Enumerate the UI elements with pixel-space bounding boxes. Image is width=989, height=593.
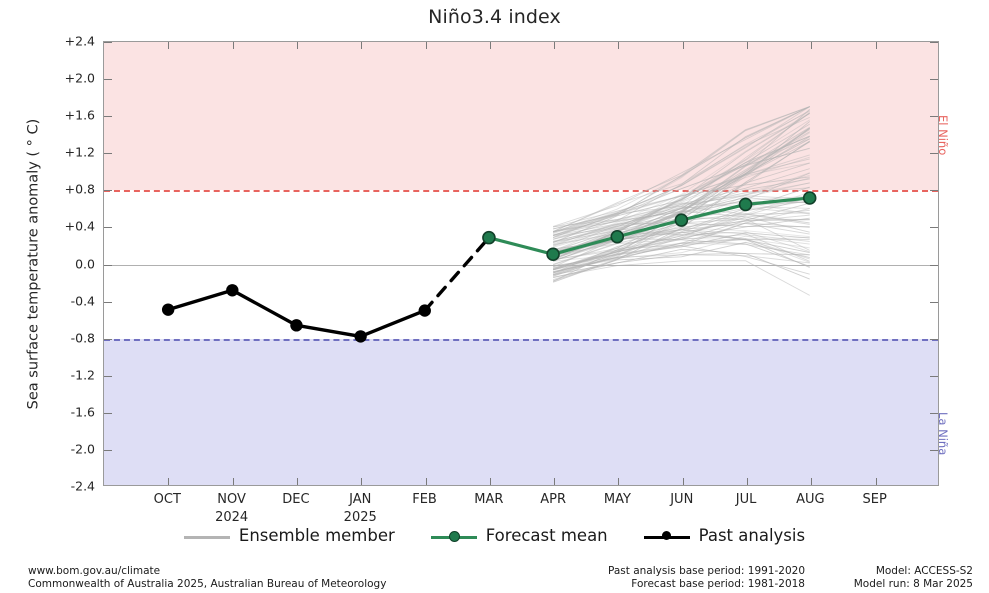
y-tick-label: +1.6: [35, 108, 95, 123]
legend-label-forecast: Forecast mean: [486, 526, 608, 545]
x-tick-mark: [747, 42, 748, 49]
x-tick-mark: [747, 478, 748, 485]
footer-model-run: Model run: 8 Mar 2025: [773, 578, 973, 591]
y-tick-mark: [104, 42, 112, 43]
forecast-mean-marker: [611, 231, 623, 243]
ensemble-line-icon: [184, 529, 230, 543]
y-tick-mark: [930, 42, 938, 43]
transition-dashed-line: [425, 238, 489, 311]
y-tick-label: -1.2: [35, 367, 95, 382]
past-analysis-marker: [290, 319, 302, 331]
footer-model-info: Model: ACCESS-S2 Model run: 8 Mar 2025: [773, 565, 973, 591]
y-tick-mark: [104, 116, 112, 117]
x-tick-mark: [876, 42, 877, 49]
y-tick-mark: [930, 265, 938, 266]
x-tick-mark: [361, 478, 362, 485]
forecast-mean-marker: [547, 248, 559, 260]
y-tick-mark: [104, 376, 112, 377]
y-tick-label: -2.4: [35, 479, 95, 494]
y-tick-mark: [930, 79, 938, 80]
y-tick-mark: [930, 227, 938, 228]
footer-model: Model: ACCESS-S2: [773, 565, 973, 578]
forecast-line-icon: [431, 529, 477, 543]
y-tick-mark: [104, 190, 112, 191]
x-tick-mark: [361, 42, 362, 49]
footer-forecast-base-period: Forecast base period: 1981-2018: [585, 578, 805, 591]
footer-left: www.bom.gov.au/climate Commonwealth of A…: [28, 565, 386, 591]
legend-label-ensemble: Ensemble member: [239, 526, 395, 545]
x-tick-mark: [490, 478, 491, 485]
forecast-mean-marker: [483, 232, 495, 244]
y-tick-label: +2.4: [35, 34, 95, 49]
y-tick-label: +1.2: [35, 145, 95, 160]
past-line-icon: [644, 529, 690, 543]
past-analysis-marker: [162, 303, 174, 315]
y-tick-label: -1.6: [35, 404, 95, 419]
y-tick-mark: [104, 302, 112, 303]
forecast-mean-marker: [804, 192, 816, 204]
x-tick-mark: [618, 42, 619, 49]
y-tick-label: -0.8: [35, 330, 95, 345]
footer-past-base-period: Past analysis base period: 1991-2020: [585, 565, 805, 578]
y-tick-mark: [104, 153, 112, 154]
plot-area: [103, 41, 939, 486]
y-tick-label: +0.4: [35, 219, 95, 234]
x-tick-mark: [233, 478, 234, 485]
x-tick-year-2025: 2025: [320, 510, 400, 525]
forecast-mean-marker: [675, 214, 687, 226]
x-tick-mark: [490, 42, 491, 49]
footer-copyright: Commonwealth of Australia 2025, Australi…: [28, 578, 386, 591]
y-tick-mark: [104, 339, 112, 340]
y-tick-mark: [104, 450, 112, 451]
x-tick-mark: [876, 478, 877, 485]
y-tick-mark: [930, 302, 938, 303]
legend-item-forecast[interactable]: Forecast mean: [431, 526, 608, 545]
x-tick-mark: [618, 478, 619, 485]
y-tick-label: 0.0: [35, 256, 95, 271]
y-tick-mark: [104, 227, 112, 228]
legend: Ensemble member Forecast mean Past analy…: [0, 526, 989, 545]
x-tick-mark: [168, 478, 169, 485]
y-tick-label: +2.0: [35, 71, 95, 86]
x-tick-mark: [554, 478, 555, 485]
y-tick-mark: [104, 265, 112, 266]
legend-label-past: Past analysis: [699, 526, 805, 545]
forecast-mean-marker: [740, 198, 752, 210]
x-tick-label-sep: SEP: [835, 492, 915, 507]
y-tick-mark: [930, 376, 938, 377]
el-nino-side-label: El Niño: [936, 115, 950, 155]
legend-item-ensemble[interactable]: Ensemble member: [184, 526, 395, 545]
legend-item-past[interactable]: Past analysis: [644, 526, 805, 545]
la-nina-side-label: La Niña: [936, 412, 950, 455]
x-tick-year-2024: 2024: [192, 510, 272, 525]
y-tick-label: -0.4: [35, 293, 95, 308]
x-tick-mark: [811, 42, 812, 49]
x-tick-mark: [683, 42, 684, 49]
page-title: Niño3.4 index: [0, 6, 989, 28]
y-tick-mark: [930, 190, 938, 191]
y-tick-mark: [104, 413, 112, 414]
x-tick-mark: [426, 42, 427, 49]
x-tick-mark: [168, 42, 169, 49]
x-tick-mark: [297, 42, 298, 49]
y-tick-label: +0.8: [35, 182, 95, 197]
x-tick-mark: [426, 478, 427, 485]
past-analysis-marker: [419, 304, 431, 316]
ensemble-member-line: [553, 261, 810, 296]
footer-site-link[interactable]: www.bom.gov.au/climate: [28, 565, 386, 578]
y-tick-mark: [104, 79, 112, 80]
y-tick-mark: [930, 339, 938, 340]
x-tick-mark: [297, 478, 298, 485]
footer-base-periods: Past analysis base period: 1991-2020 For…: [585, 565, 805, 591]
x-tick-mark: [233, 42, 234, 49]
series-layer: [104, 42, 938, 485]
x-tick-mark: [811, 478, 812, 485]
past-analysis-marker: [226, 284, 238, 296]
past-analysis-marker: [354, 330, 366, 342]
x-tick-mark: [683, 478, 684, 485]
y-tick-label: -2.0: [35, 441, 95, 456]
x-tick-mark: [554, 42, 555, 49]
